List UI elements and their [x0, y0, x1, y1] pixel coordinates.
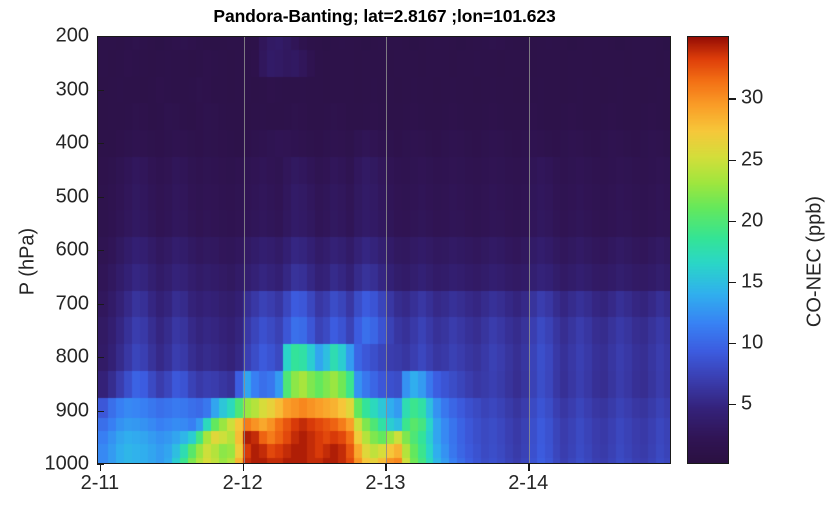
y-tick-mark: [97, 250, 104, 251]
y-tick-label: 700: [56, 292, 89, 315]
colorbar-tick-label: 10: [741, 331, 763, 354]
colorbar-tick-mark: [729, 343, 736, 344]
y-tick-mark: [97, 357, 104, 358]
y-tick-mark: [97, 90, 104, 91]
y-tick-label: 900: [56, 399, 89, 422]
x-tick-label: 2-12: [223, 472, 263, 495]
y-axis-label: P (hPa): [17, 182, 40, 342]
gridline: [244, 37, 245, 463]
colorbar-tick-label: 15: [741, 270, 763, 293]
y-tick-label: 400: [56, 132, 89, 155]
heatmap-image: [98, 37, 671, 464]
colorbar-tick-label: 20: [741, 209, 763, 232]
colorbar: [687, 36, 729, 464]
x-tick-mark: [528, 464, 529, 471]
x-tick-mark: [385, 464, 386, 471]
x-tick-label: 2-14: [508, 472, 548, 495]
colorbar-tick-mark: [729, 221, 736, 222]
y-tick-label: 500: [56, 185, 89, 208]
y-tick-mark: [97, 411, 104, 412]
y-tick-mark: [97, 36, 104, 37]
colorbar-tick-mark: [729, 98, 736, 99]
colorbar-tick-mark: [729, 160, 736, 161]
colorbar-tick-label: 30: [741, 87, 763, 110]
y-tick-mark: [97, 304, 104, 305]
y-tick-label: 300: [56, 78, 89, 101]
gridline: [529, 37, 530, 463]
colorbar-tick-mark: [729, 404, 736, 405]
x-tick-mark: [243, 464, 244, 471]
y-tick-mark: [97, 143, 104, 144]
heatmap-plot-area: [97, 36, 671, 464]
chart-title: Pandora-Banting; lat=2.8167 ;lon=101.623: [97, 6, 672, 27]
y-tick-label: 200: [56, 25, 89, 48]
colorbar-gradient: [688, 37, 729, 464]
colorbar-tick-mark: [729, 282, 736, 283]
y-tick-label: 600: [56, 239, 89, 262]
x-tick-label: 2-13: [365, 472, 405, 495]
x-tick-label: 2-11: [81, 472, 120, 495]
gridline: [386, 37, 387, 463]
x-tick-mark: [100, 464, 101, 471]
y-tick-label: 800: [56, 346, 89, 369]
y-tick-mark: [97, 197, 104, 198]
colorbar-tick-label: 5: [741, 393, 752, 416]
figure-canvas: Pandora-Banting; lat=2.8167 ;lon=101.623…: [0, 0, 833, 521]
colorbar-tick-label: 25: [741, 148, 763, 171]
colorbar-label: CO-NEC (ppb): [804, 162, 827, 362]
